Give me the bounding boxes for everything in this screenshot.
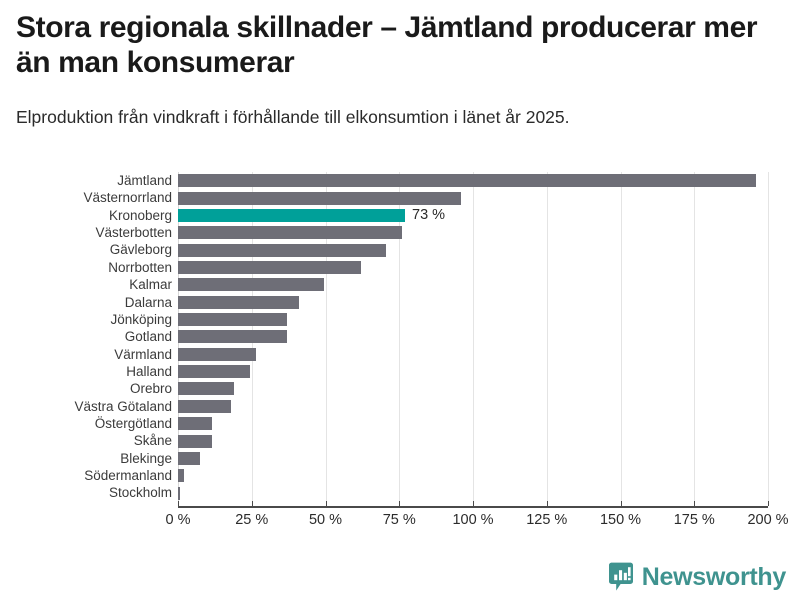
bar-value-label: 73 % (412, 209, 445, 222)
bar-category-label: Gotland (0, 328, 172, 345)
bar-chart: JämtlandVästernorrlandKronoberg73 %Väste… (0, 168, 800, 528)
bar-row[interactable]: Västra Götaland (0, 398, 800, 415)
x-axis-tick-label: 100 % (452, 512, 493, 528)
bar-track (178, 467, 800, 484)
bar-row[interactable]: Orebro (0, 380, 800, 397)
bar[interactable] (178, 382, 234, 395)
bar[interactable] (178, 261, 361, 274)
x-axis-tick-label: 50 % (309, 512, 342, 528)
x-axis-line (178, 506, 768, 508)
bar-category-label: Jönköping (0, 311, 172, 328)
bar-row[interactable]: Blekinge (0, 450, 800, 467)
bar[interactable] (178, 313, 287, 326)
bar-category-label: Västernorrland (0, 189, 172, 206)
x-axis-tick-label: 200 % (747, 512, 788, 528)
x-axis-tick-label: 0 % (166, 512, 191, 528)
bar[interactable] (178, 487, 180, 500)
bar-row[interactable]: Södermanland (0, 467, 800, 484)
bar-track (178, 224, 800, 241)
bar-row[interactable]: Västernorrland (0, 189, 800, 206)
x-axis-tick (326, 501, 327, 506)
x-axis-tick (178, 501, 179, 506)
x-axis-tick-label: 175 % (674, 512, 715, 528)
bar-row[interactable]: Gotland (0, 328, 800, 345)
bar-category-label: Östergötland (0, 415, 172, 432)
bar-track (178, 415, 800, 432)
bar-track (178, 432, 800, 449)
brand-footer: Newsworthy (608, 562, 786, 592)
bar-track (178, 172, 800, 189)
bar[interactable] (178, 174, 756, 187)
bar-chart-speech-bubble-icon (608, 562, 634, 592)
x-axis-tick-label: 150 % (600, 512, 641, 528)
bar-category-label: Västerbotten (0, 224, 172, 241)
bar-track (178, 241, 800, 258)
bar-row[interactable]: Stockholm (0, 484, 800, 501)
bar-row[interactable]: Jönköping (0, 311, 800, 328)
bar[interactable] (178, 278, 324, 291)
bar[interactable] (178, 348, 256, 361)
x-axis-tick (252, 501, 253, 506)
bar-highlighted[interactable] (178, 209, 405, 222)
bar-row[interactable]: Dalarna (0, 294, 800, 311)
x-axis-tick (547, 501, 548, 506)
bar-track (178, 398, 800, 415)
chart-subtitle: Elproduktion från vindkraft i förhålland… (16, 107, 784, 129)
bar-row[interactable]: Kalmar (0, 276, 800, 293)
bar[interactable] (178, 400, 231, 413)
bar[interactable] (178, 244, 386, 257)
x-axis-tick (621, 501, 622, 506)
bar-track (178, 294, 800, 311)
x-axis-tick-label: 25 % (235, 512, 268, 528)
bar-category-label: Kronoberg (0, 207, 172, 224)
bar-track (178, 380, 800, 397)
bar-category-label: Dalarna (0, 294, 172, 311)
bar-row[interactable]: Kronoberg73 % (0, 207, 800, 224)
bar-category-label: Halland (0, 363, 172, 380)
bar[interactable] (178, 192, 461, 205)
bar-track (178, 450, 800, 467)
bar-category-label: Södermanland (0, 467, 172, 484)
bar-track (178, 189, 800, 206)
bar-row[interactable]: Norrbotten (0, 259, 800, 276)
x-axis-tick (768, 501, 769, 506)
bar[interactable] (178, 296, 299, 309)
bar-track (178, 328, 800, 345)
bar-row[interactable]: Östergötland (0, 415, 800, 432)
bar-category-label: Västra Götaland (0, 398, 172, 415)
bar-row[interactable]: Skåne (0, 432, 800, 449)
bar-category-label: Orebro (0, 380, 172, 397)
bar[interactable] (178, 435, 212, 448)
x-axis-tick (694, 501, 695, 506)
bar-track (178, 484, 800, 501)
bar-category-label: Jämtland (0, 172, 172, 189)
bar-category-label: Norrbotten (0, 259, 172, 276)
bar-track (178, 311, 800, 328)
bar-category-label: Gävleborg (0, 241, 172, 258)
bar-category-label: Blekinge (0, 450, 172, 467)
x-axis-tick-label: 125 % (526, 512, 567, 528)
brand-name: Newsworthy (642, 565, 786, 590)
chart-bar-rows: JämtlandVästernorrlandKronoberg73 %Väste… (0, 172, 800, 502)
bar-category-label: Kalmar (0, 276, 172, 293)
bar[interactable] (178, 469, 184, 482)
bar-category-label: Stockholm (0, 484, 172, 501)
bar-track (178, 363, 800, 380)
bar-row[interactable]: Halland (0, 363, 800, 380)
bar[interactable] (178, 417, 212, 430)
bar-track (178, 346, 800, 363)
bar-category-label: Värmland (0, 346, 172, 363)
page-title: Stora regionala skillnader – Jämtland pr… (16, 10, 784, 81)
bar-row[interactable]: Jämtland (0, 172, 800, 189)
bar-track: 73 % (178, 207, 800, 224)
bar-row[interactable]: Värmland (0, 346, 800, 363)
x-axis-tick (473, 501, 474, 506)
bar[interactable] (178, 226, 402, 239)
chart-header: Stora regionala skillnader – Jämtland pr… (0, 0, 800, 129)
bar[interactable] (178, 365, 250, 378)
bar-row[interactable]: Västerbotten (0, 224, 800, 241)
bar-track (178, 276, 800, 293)
x-axis: 0 %25 %50 %75 %100 %125 %150 %175 %200 % (178, 506, 768, 546)
bar[interactable] (178, 452, 200, 465)
bar-track (178, 259, 800, 276)
bar-category-label: Skåne (0, 432, 172, 449)
bar-row[interactable]: Gävleborg (0, 241, 800, 258)
bar[interactable] (178, 330, 287, 343)
x-axis-tick-label: 75 % (383, 512, 416, 528)
x-axis-tick (399, 501, 400, 506)
